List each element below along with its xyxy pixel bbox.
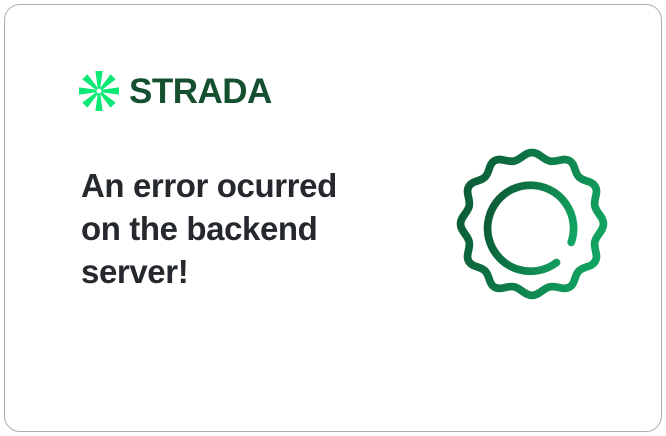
brand-name: STRADA [129, 74, 272, 109]
brand-logo: STRADA [79, 71, 272, 111]
strada-asterisk-icon [79, 71, 119, 111]
gear-icon [446, 143, 618, 315]
error-screen: STRADA An error ocurred on the backend s… [0, 0, 666, 436]
error-headline: An error ocurred on the backend server! [81, 165, 381, 294]
error-card: STRADA An error ocurred on the backend s… [4, 4, 662, 432]
